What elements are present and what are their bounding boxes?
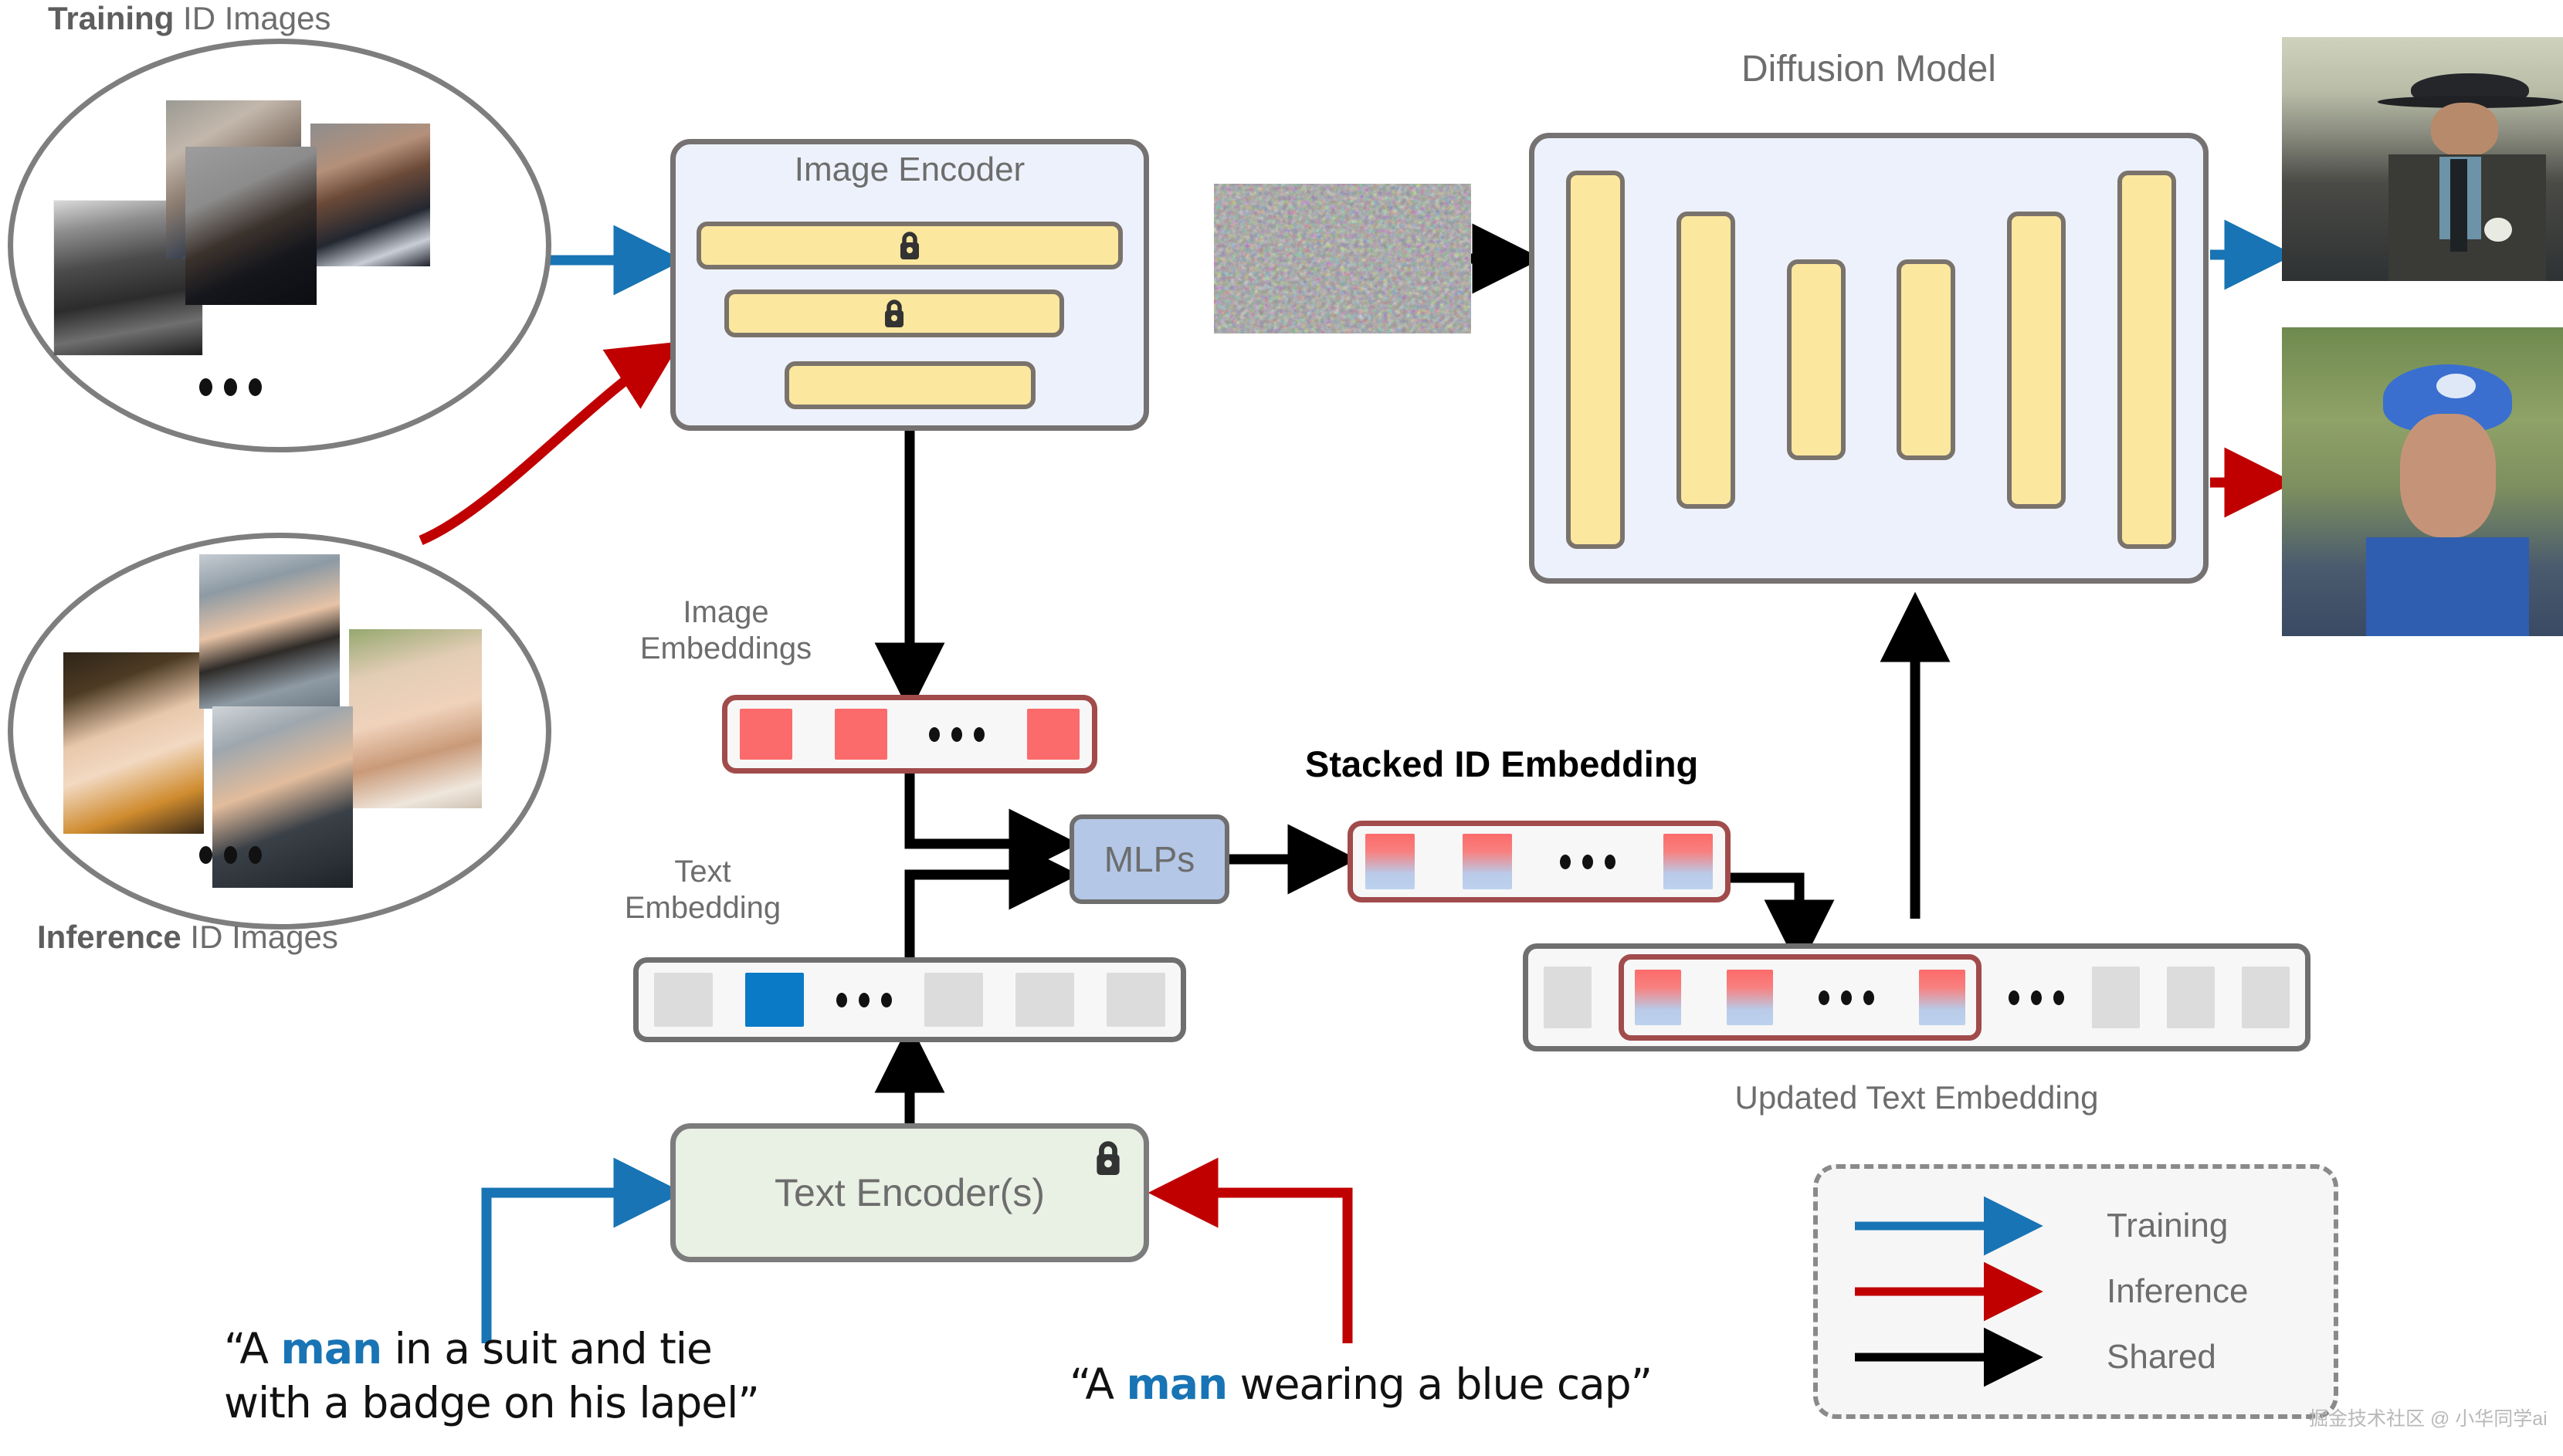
text-encoder-box[interactable]: Text Encoder(s) (670, 1123, 1149, 1262)
image-embeddings-ellipsis (929, 727, 985, 742)
training-prompt-open-quote: “ (224, 1324, 239, 1373)
updated-text-embedding-cell (2242, 967, 2290, 1028)
legend-item-training: Training (1813, 1207, 2338, 1245)
inference-prompt-highlight: man (1127, 1359, 1228, 1409)
unet-block-6[interactable] (2117, 171, 2176, 549)
stacked-id-ellipsis (1560, 855, 1615, 869)
training-group-label: Training ID Images (48, 0, 331, 37)
image-embedding-cell (740, 709, 792, 760)
updated-id-cell (1635, 970, 1681, 1025)
stacked-id-cell (1463, 834, 1512, 889)
noise-latent-image-lower (1214, 184, 1471, 334)
updated-id-cell (1919, 970, 1965, 1025)
image-encoder-layer-1[interactable] (697, 222, 1123, 269)
image-embedding-cell (1027, 709, 1080, 760)
text-embedding-label-line2: Embedding (587, 890, 819, 926)
inference-prompt-text: “A man wearing a blue cap” (1070, 1357, 1652, 1411)
stacked-id-cell (1365, 834, 1415, 889)
text-embedding-cell (1107, 973, 1165, 1027)
unet-block-4[interactable] (1897, 259, 1955, 460)
text-embedding-ellipsis (836, 993, 892, 1007)
lock-icon (896, 229, 924, 262)
unet-block-5[interactable] (2007, 212, 2066, 509)
training-prompt-before: A (239, 1324, 280, 1373)
legend-label-training: Training (2107, 1207, 2228, 1245)
text-embedding-label-line1: Text (587, 854, 819, 890)
training-prompt-text: “A man in a suit and tie with a badge on… (224, 1322, 759, 1431)
inference-label-strong: Inference (37, 919, 181, 955)
unet-block-3[interactable] (1787, 259, 1846, 460)
training-label-strong: Training (48, 0, 174, 36)
updated-text-embedding-strip[interactable] (1523, 943, 2310, 1051)
stacked-id-cell (1663, 834, 1713, 889)
legend-arrow-inference (1853, 1280, 2046, 1303)
inference-photo-3 (349, 629, 482, 808)
updated-text-embedding-cell (2092, 967, 2140, 1028)
image-embeddings-strip[interactable] (722, 695, 1097, 774)
text-embedding-strip[interactable] (633, 957, 1186, 1042)
image-embeddings-label: Image Embeddings (610, 594, 842, 667)
inference-prompt-open-quote: “ (1070, 1359, 1085, 1409)
training-ellipsis (199, 378, 262, 396)
legend-label-shared: Shared (2107, 1338, 2216, 1376)
mlps-label: MLPs (1104, 838, 1195, 880)
lock-icon (880, 297, 908, 330)
legend-label-inference: Inference (2107, 1272, 2248, 1311)
unet-block-1[interactable] (1566, 171, 1625, 549)
training-output-image (2282, 37, 2563, 281)
diffusion-model-title: Diffusion Model (1529, 48, 2209, 90)
image-embeddings-label-line1: Image (610, 594, 842, 631)
updated-text-embedding-caption: Updated Text Embedding (1523, 1079, 2310, 1116)
legend-arrow-shared (1853, 1346, 2046, 1369)
inference-photo-2 (199, 554, 340, 709)
unet-blocks-row (1566, 151, 2176, 568)
text-encoder-label: Text Encoder(s) (775, 1170, 1045, 1215)
image-encoder-layer-2[interactable] (724, 290, 1064, 337)
image-encoder-title: Image Encoder (670, 151, 1149, 189)
image-embeddings-label-line2: Embeddings (610, 631, 842, 667)
training-prompt-highlight: man (281, 1324, 382, 1373)
inference-label-rest: ID Images (181, 919, 338, 955)
training-photo-3 (310, 124, 430, 266)
stacked-id-embedding-strip[interactable] (1348, 821, 1731, 902)
legend-arrow-training (1853, 1214, 2046, 1238)
mlps-box[interactable]: MLPs (1070, 814, 1229, 904)
watermark: 掘金技术社区 @ 小华同学ai (2309, 1404, 2548, 1431)
updated-id-cell (1727, 970, 1773, 1025)
updated-text-embedding-cell (1544, 967, 1592, 1028)
legend-item-inference: Inference (1813, 1272, 2338, 1311)
legend-item-shared: Shared (1813, 1338, 2338, 1376)
text-embedding-cell (924, 973, 983, 1027)
inference-group-label: Inference ID Images (37, 919, 338, 956)
text-embedding-cell (1015, 973, 1074, 1027)
updated-text-embedding-cell (2167, 967, 2215, 1028)
training-prompt-after: in a suit and tie (381, 1324, 712, 1373)
training-prompt-line2: with a badge on his lapel” (224, 1376, 759, 1430)
lock-icon (1091, 1138, 1125, 1178)
inference-output-image (2282, 327, 2563, 636)
unet-block-2[interactable] (1676, 212, 1735, 509)
inference-photo-1 (63, 652, 204, 834)
training-photo-4 (185, 147, 317, 305)
image-embedding-cell (835, 709, 887, 760)
inference-prompt-after: wearing a blue cap” (1227, 1359, 1652, 1409)
updated-text-embedding-ellipsis (2009, 990, 2064, 1005)
text-embedding-cell (654, 973, 713, 1027)
training-label-rest: ID Images (174, 0, 331, 36)
text-embedding-label: Text Embedding (587, 854, 819, 926)
legend-items: Training Inference Shared (1813, 1164, 2338, 1419)
updated-id-group-ellipsis (1819, 990, 1874, 1005)
stacked-id-embedding-title: Stacked ID Embedding (1305, 743, 1698, 785)
text-embedding-cell-highlighted (745, 973, 804, 1027)
inference-ellipsis (199, 846, 262, 864)
image-encoder-layer-3[interactable] (785, 361, 1036, 409)
updated-text-embedding-id-group (1619, 954, 1982, 1041)
inference-prompt-before: A (1085, 1359, 1126, 1409)
